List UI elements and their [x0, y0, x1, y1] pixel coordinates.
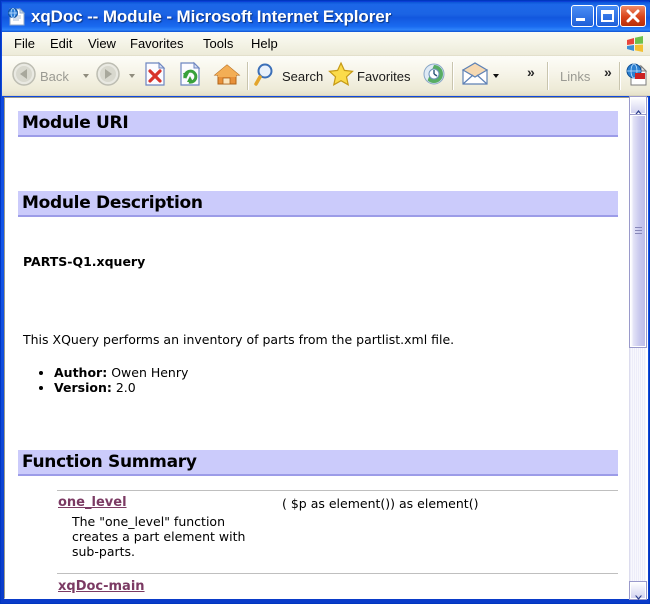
section-title-module-description: Module Description — [22, 193, 203, 213]
toolbar-overflow-chevron-icon[interactable]: » — [527, 64, 535, 80]
links-bar-label[interactable]: Links — [560, 69, 590, 84]
refresh-button[interactable] — [177, 60, 203, 92]
toolbar-separator-4 — [619, 62, 621, 90]
pdf-globe-button[interactable] — [624, 60, 650, 92]
back-button[interactable]: Back — [10, 60, 69, 92]
window-title: xqDoc -- Module - Microsoft Internet Exp… — [31, 5, 391, 29]
forward-dropdown-caret-icon[interactable] — [129, 74, 135, 78]
scroll-down-button[interactable] — [630, 582, 646, 599]
vertical-scrollbar[interactable] — [629, 97, 646, 599]
forward-button[interactable] — [94, 60, 122, 92]
meta-item-version: Version: 2.0 — [54, 380, 188, 395]
function-description-one-level: The "one_level" function creates a part … — [72, 514, 252, 559]
module-meta-list: Author: Owen Henry Version: 2.0 — [36, 365, 188, 395]
mail-dropdown-caret-icon[interactable] — [493, 74, 499, 78]
menu-item-favorites[interactable]: Favorites — [124, 35, 189, 53]
star-icon — [327, 60, 355, 93]
chevron-down-icon — [634, 588, 643, 606]
function-link-xqdoc-main[interactable]: xqDoc-main — [58, 579, 145, 594]
title-bar: xqDoc -- Module - Microsoft Internet Exp… — [2, 2, 650, 32]
function-row-divider-2 — [57, 573, 618, 574]
search-button[interactable]: Search — [254, 60, 323, 92]
refresh-icon — [177, 60, 203, 93]
windows-flag-icon[interactable] — [625, 35, 645, 53]
search-button-label: Search — [282, 69, 323, 84]
module-uri-value: PARTS-Q1.xquery — [23, 254, 145, 269]
scrollbar-thumb[interactable] — [630, 115, 646, 347]
toolbar-separator-3 — [547, 62, 549, 90]
close-button[interactable] — [620, 5, 646, 27]
document-globe-icon — [7, 7, 27, 27]
browser-window: xqDoc -- Module - Microsoft Internet Exp… — [0, 0, 650, 604]
meta-label-author: Author: — [54, 365, 107, 380]
menu-item-edit[interactable]: Edit — [44, 35, 78, 53]
browser-content-area: Module URI PARTS-Q1.xquery Module Descri… — [4, 97, 648, 599]
scroll-up-button[interactable] — [630, 97, 646, 114]
section-title-function-summary: Function Summary — [22, 452, 197, 472]
back-arrow-icon — [10, 60, 38, 93]
history-icon — [420, 60, 448, 93]
home-button[interactable] — [212, 60, 242, 92]
home-icon — [212, 60, 242, 93]
menu-bar: File Edit View Favorites Tools Help — [2, 32, 650, 56]
function-row-divider — [57, 490, 618, 491]
maximize-button[interactable] — [596, 5, 619, 27]
pdf-globe-icon — [624, 60, 650, 93]
section-header-module-description: Module Description — [18, 191, 618, 217]
meta-item-author: Author: Owen Henry — [54, 365, 188, 380]
xqdoc-page: Module URI PARTS-Q1.xquery Module Descri… — [6, 98, 630, 598]
favorites-button-label: Favorites — [357, 69, 410, 84]
scrollbar-thumb-grip — [635, 227, 642, 235]
links-overflow-chevron-icon[interactable]: » — [604, 64, 612, 80]
stop-button[interactable] — [142, 60, 168, 92]
minimize-button[interactable] — [571, 5, 594, 27]
forward-arrow-icon — [94, 60, 122, 93]
menu-item-view[interactable]: View — [82, 35, 122, 53]
menu-item-file[interactable]: File — [8, 35, 41, 53]
function-signature-one-level: ( $p as element()) as element() — [282, 496, 478, 511]
section-header-module-uri: Module URI — [18, 111, 618, 137]
favorites-button[interactable]: Favorites — [327, 60, 410, 92]
toolbar-separator-2 — [452, 62, 454, 90]
meta-label-version: Version: — [54, 380, 112, 395]
menu-item-tools[interactable]: Tools — [197, 35, 239, 53]
mail-button[interactable] — [460, 60, 499, 92]
meta-value-version: 2.0 — [116, 380, 136, 395]
magnifier-icon — [254, 60, 280, 93]
module-description-text: This XQuery performs an inventory of par… — [23, 332, 454, 347]
toolbar: Back — [2, 56, 650, 96]
history-button[interactable] — [420, 60, 448, 92]
section-title-module-uri: Module URI — [22, 113, 128, 133]
stop-icon — [142, 60, 168, 93]
menu-item-help[interactable]: Help — [245, 35, 284, 53]
back-button-label: Back — [40, 69, 69, 84]
mail-icon — [460, 60, 490, 93]
toolbar-separator — [247, 62, 249, 90]
meta-value-author: Owen Henry — [111, 365, 188, 380]
function-link-one-level[interactable]: one_level — [58, 495, 127, 510]
back-dropdown-caret-icon[interactable] — [83, 74, 89, 78]
section-header-function-summary: Function Summary — [18, 450, 618, 476]
